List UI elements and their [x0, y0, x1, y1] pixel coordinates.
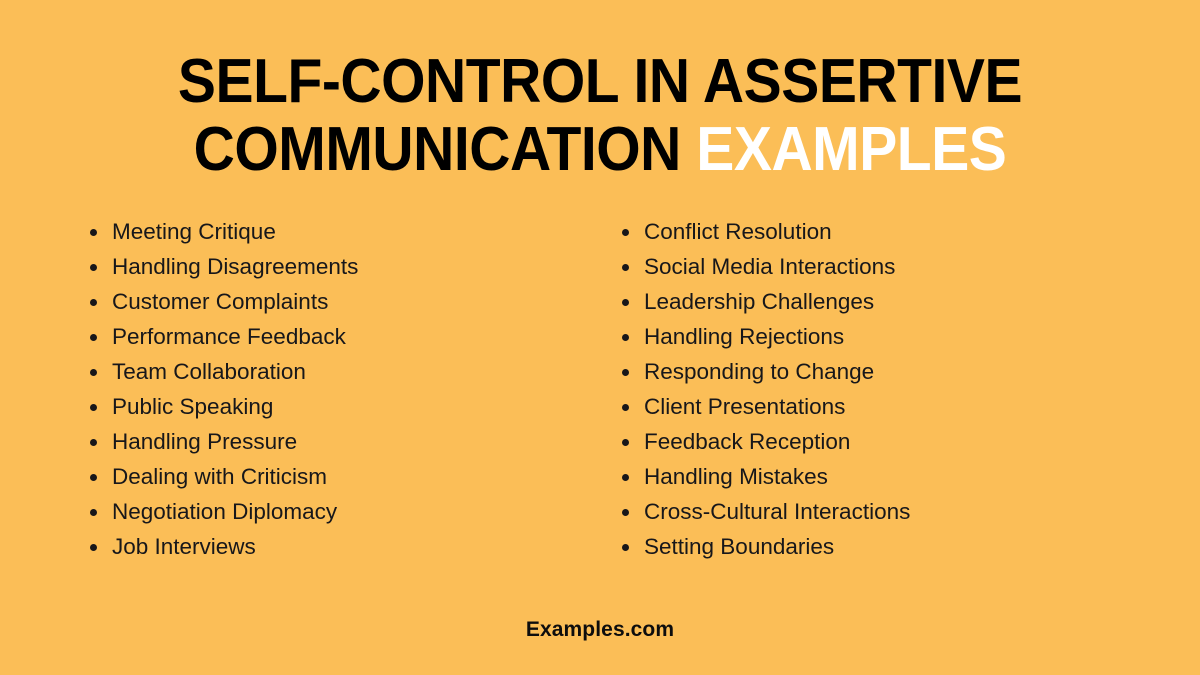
list-item: Setting Boundaries [620, 529, 1120, 564]
title-line-1: SELF-CONTROL IN ASSERTIVE [103, 48, 1097, 116]
list-item-label: Handling Pressure [112, 429, 297, 454]
list-item: Public Speaking [88, 389, 588, 424]
list-item-label: Conflict Resolution [644, 219, 832, 244]
bullet-icon [90, 404, 97, 411]
bullet-icon [90, 474, 97, 481]
brand-label: Examples.com [526, 618, 674, 641]
bullet-icon [622, 299, 629, 306]
bullet-icon [622, 404, 629, 411]
title-accent-text: EXAMPLES [696, 115, 1006, 184]
bullet-icon [90, 229, 97, 236]
list-item-label: Handling Rejections [644, 324, 844, 349]
list-item: Team Collaboration [88, 354, 588, 389]
list-item-label: Customer Complaints [112, 289, 328, 314]
list-item-label: Setting Boundaries [644, 534, 834, 559]
poster-canvas: SELF-CONTROL IN ASSERTIVE COMMUNICATION … [0, 0, 1200, 675]
list-item: Handling Mistakes [620, 459, 1120, 494]
list-item-label: Performance Feedback [112, 324, 346, 349]
list-item-label: Public Speaking [112, 394, 273, 419]
bullet-icon [622, 264, 629, 271]
list-item-label: Negotiation Diplomacy [112, 499, 337, 524]
left-column: Meeting Critique Handling Disagreements … [88, 214, 588, 564]
list-item: Client Presentations [620, 389, 1120, 424]
list-item: Dealing with Criticism [88, 459, 588, 494]
list-item-label: Dealing with Criticism [112, 464, 327, 489]
bullet-icon [90, 299, 97, 306]
list-item: Responding to Change [620, 354, 1120, 389]
footer: Examples.com [0, 618, 1200, 642]
bullet-icon [622, 439, 629, 446]
list-item: Customer Complaints [88, 284, 588, 319]
list-item: Leadership Challenges [620, 284, 1120, 319]
bullet-icon [90, 264, 97, 271]
bullet-icon [90, 439, 97, 446]
bullet-icon [90, 544, 97, 551]
examples-columns: Meeting Critique Handling Disagreements … [0, 214, 1200, 564]
list-item: Handling Disagreements [88, 249, 588, 284]
list-item-label: Handling Mistakes [644, 464, 828, 489]
list-item-label: Cross-Cultural Interactions [644, 499, 910, 524]
bullet-icon [622, 369, 629, 376]
list-item: Feedback Reception [620, 424, 1120, 459]
bullet-icon [90, 334, 97, 341]
bullet-icon [622, 229, 629, 236]
list-item: Handling Rejections [620, 319, 1120, 354]
page-title: SELF-CONTROL IN ASSERTIVE COMMUNICATION … [0, 48, 1200, 184]
bullet-icon [622, 474, 629, 481]
bullet-icon [90, 509, 97, 516]
list-item: Negotiation Diplomacy [88, 494, 588, 529]
list-item-label: Feedback Reception [644, 429, 850, 454]
list-item-label: Job Interviews [112, 534, 256, 559]
list-item-label: Responding to Change [644, 359, 874, 384]
bullet-icon [90, 369, 97, 376]
list-item-label: Handling Disagreements [112, 254, 358, 279]
list-item-label: Social Media Interactions [644, 254, 895, 279]
list-item: Cross-Cultural Interactions [620, 494, 1120, 529]
right-column: Conflict Resolution Social Media Interac… [620, 214, 1120, 564]
right-example-list: Conflict Resolution Social Media Interac… [620, 214, 1120, 564]
list-item: Meeting Critique [88, 214, 588, 249]
title-main-text: COMMUNICATION [194, 115, 681, 184]
bullet-icon [622, 509, 629, 516]
left-example-list: Meeting Critique Handling Disagreements … [88, 214, 588, 564]
list-item-label: Client Presentations [644, 394, 845, 419]
list-item: Handling Pressure [88, 424, 588, 459]
list-item-label: Team Collaboration [112, 359, 306, 384]
list-item: Job Interviews [88, 529, 588, 564]
list-item: Social Media Interactions [620, 249, 1120, 284]
bullet-icon [622, 334, 629, 341]
list-item-label: Leadership Challenges [644, 289, 874, 314]
list-item: Performance Feedback [88, 319, 588, 354]
bullet-icon [622, 544, 629, 551]
list-item-label: Meeting Critique [112, 219, 276, 244]
list-item: Conflict Resolution [620, 214, 1120, 249]
title-line-2: COMMUNICATION EXAMPLES [103, 116, 1097, 184]
